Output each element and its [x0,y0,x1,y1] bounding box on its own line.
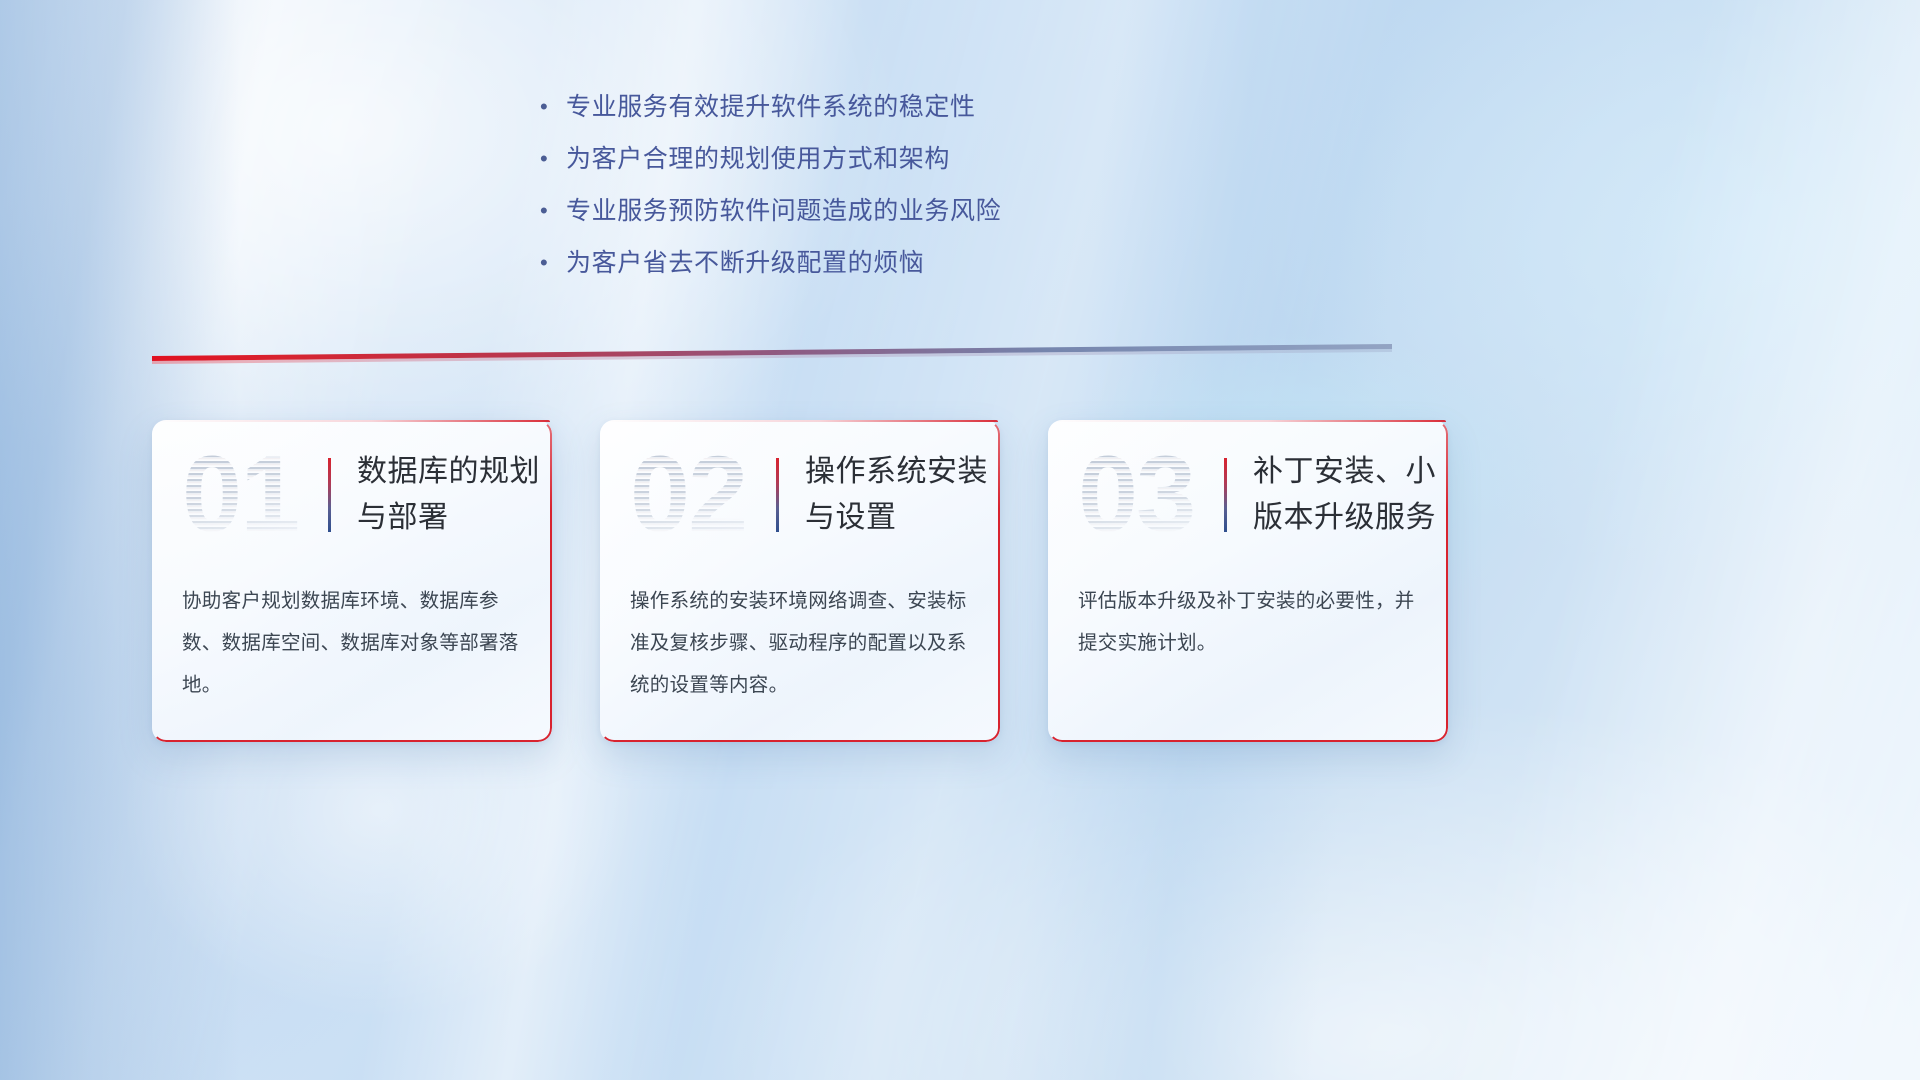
bullet-dot-icon: • [540,142,566,176]
service-card[interactable]: 03 补丁安装、小 版本升级服务 评估版本升级及补丁安装的必要性，并提交实施计划… [1048,420,1448,742]
striped-number-icon: 03 [1076,443,1216,547]
service-card[interactable]: 01 数据库的规划 与部署 协助客户规划数据库环境、数据库参数、数据库空间、数据… [152,420,552,742]
card-description: 操作系统的安装环境网络调查、安装标准及复核步骤、驱动程序的配置以及系统的设置等内… [600,580,1000,706]
card-header: 02 操作系统安装 与设置 [600,420,1000,570]
card-description: 评估版本升级及补丁安装的必要性，并提交实施计划。 [1048,580,1448,664]
card-number-graphic: 03 [1076,443,1216,547]
striped-number-icon: 02 [628,443,768,547]
card-accent-bar [776,458,779,532]
striped-number-icon: 01 [180,443,320,547]
service-card-list: 01 数据库的规划 与部署 协助客户规划数据库环境、数据库参数、数据库空间、数据… [152,420,1452,742]
service-card[interactable]: 02 操作系统安装 与设置 操作系统的安装环境网络调查、安装标准及复核步骤、驱动… [600,420,1000,742]
card-header: 01 数据库的规划 与部署 [152,420,552,570]
bullet-dot-icon: • [540,194,566,228]
list-item: • 为客户省去不断升级配置的烦恼 [540,246,1160,298]
card-number-graphic: 02 [628,443,768,547]
section-divider [152,344,1392,366]
bullet-text: 为客户省去不断升级配置的烦恼 [566,246,924,280]
divider-shape-icon [152,344,1392,366]
card-title: 补丁安装、小 版本升级服务 [1253,449,1436,541]
bullet-dot-icon: • [540,246,566,280]
card-accent-bar [1224,458,1227,532]
card-number-graphic: 01 [180,443,320,547]
svg-text:03: 03 [1078,443,1194,547]
list-item: • 为客户合理的规划使用方式和架构 [540,142,1160,194]
card-accent-bar [328,458,331,532]
card-description: 协助客户规划数据库环境、数据库参数、数据库空间、数据库对象等部署落地。 [152,580,552,706]
benefits-bullet-list: • 专业服务有效提升软件系统的稳定性 • 为客户合理的规划使用方式和架构 • 专… [540,90,1160,298]
list-item: • 专业服务有效提升软件系统的稳定性 [540,90,1160,142]
svg-text:02: 02 [630,443,746,547]
bullet-text: 专业服务预防软件问题造成的业务风险 [566,194,1001,228]
bullet-text: 专业服务有效提升软件系统的稳定性 [566,90,976,124]
list-item: • 专业服务预防软件问题造成的业务风险 [540,194,1160,246]
svg-text:01: 01 [182,443,298,547]
card-title: 操作系统安装 与设置 [805,449,988,541]
bullet-text: 为客户合理的规划使用方式和架构 [566,142,950,176]
bullet-dot-icon: • [540,90,566,124]
card-title: 数据库的规划 与部署 [357,449,540,541]
card-header: 03 补丁安装、小 版本升级服务 [1048,420,1448,570]
